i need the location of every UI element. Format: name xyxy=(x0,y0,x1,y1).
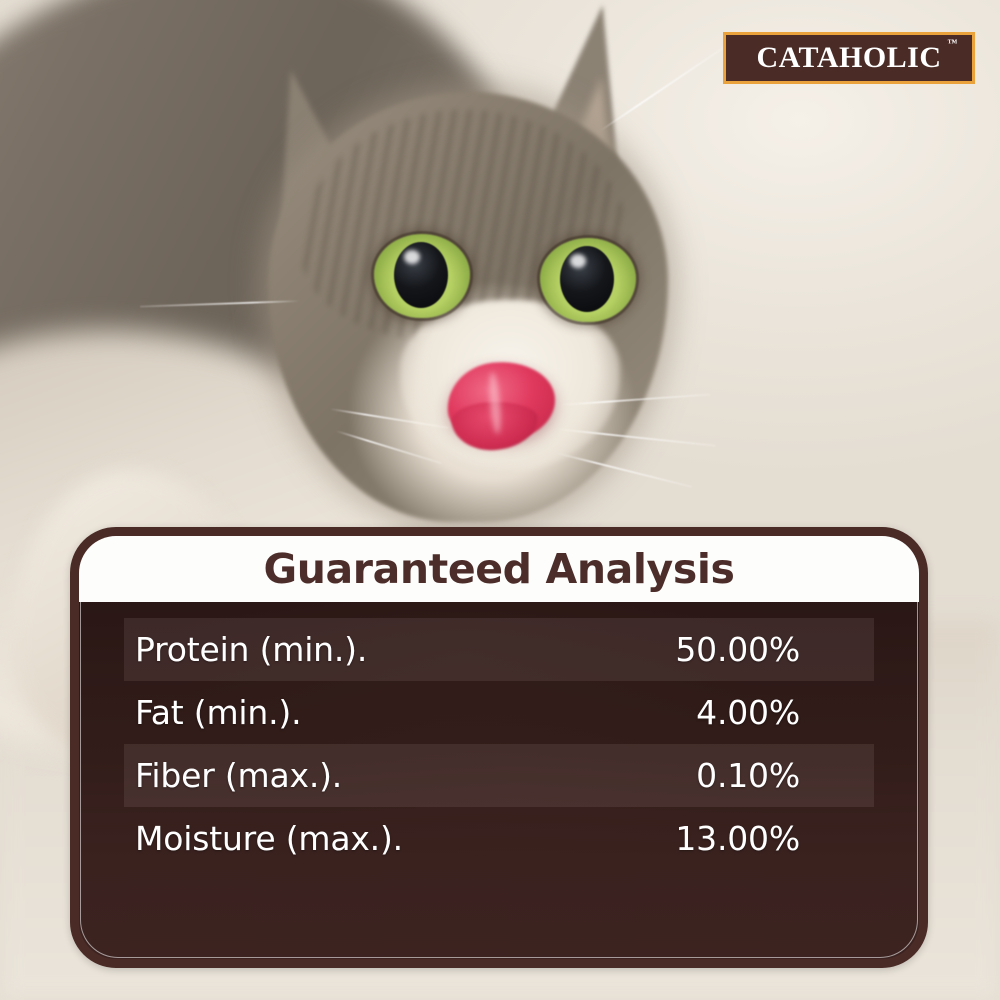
cat-eye-glint-right xyxy=(570,254,586,268)
nutrient-value: 50.00% xyxy=(675,630,800,669)
nutrient-value: 13.00% xyxy=(675,819,800,858)
page-title: Guaranteed Analysis xyxy=(263,545,734,593)
cat-eye-glint-left xyxy=(404,250,420,264)
trademark-symbol: ™ xyxy=(948,39,958,49)
nutrient-value: 0.10% xyxy=(696,756,800,795)
table-row: Fat (min.). 4.00% xyxy=(124,681,874,744)
nutrient-label: Fat (min.). xyxy=(135,693,301,732)
cat-pupil-left xyxy=(394,242,448,308)
analysis-table: Protein (min.). 50.00% Fat (min.). 4.00%… xyxy=(79,602,919,968)
brand-logo: CATAHOLIC ™ xyxy=(723,32,975,84)
product-infographic: CATAHOLIC ™ Guaranteed Analysis Protein … xyxy=(0,0,1000,1000)
brand-logo-text: CATAHOLIC ™ xyxy=(756,43,941,73)
table-row: Protein (min.). 50.00% xyxy=(124,618,874,681)
nutrient-label: Protein (min.). xyxy=(135,630,367,669)
card-header: Guaranteed Analysis xyxy=(79,536,919,602)
table-row: Fiber (max.). 0.10% xyxy=(124,744,874,807)
cat-pupil-right xyxy=(560,246,614,312)
table-row: Moisture (max.). 13.00% xyxy=(124,807,874,870)
nutrient-label: Moisture (max.). xyxy=(135,819,403,858)
nutrient-label: Fiber (max.). xyxy=(135,756,342,795)
guaranteed-analysis-card: Guaranteed Analysis Protein (min.). 50.0… xyxy=(70,527,928,968)
nutrient-value: 4.00% xyxy=(696,693,800,732)
